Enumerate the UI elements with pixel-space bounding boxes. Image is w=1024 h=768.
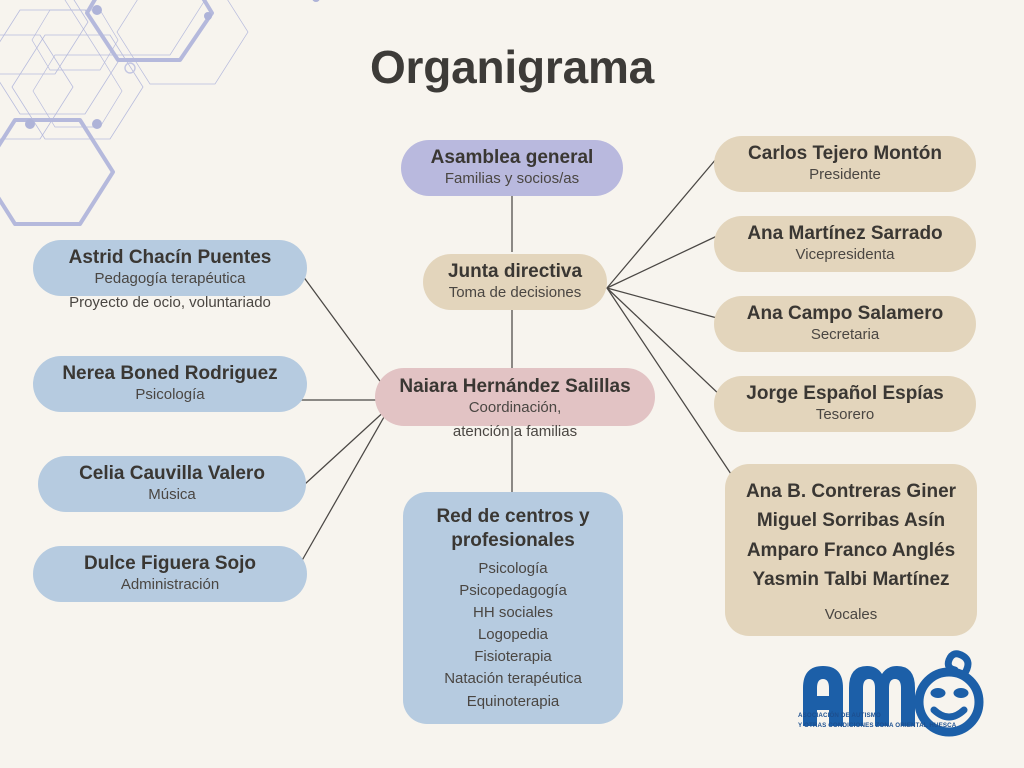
logo-tagline-line-2: Y OTRAS CONDICIONES ZONA ORIENTAL HUESCA	[798, 721, 978, 731]
service-item: Natación terapéutica	[444, 668, 582, 690]
node-staff-celia[interactable]: Celia Cauvilla Valero Música	[38, 456, 306, 512]
junta-name: Junta directiva	[448, 261, 582, 283]
board-member-role: Presidente	[809, 165, 881, 185]
vocales-role: Vocales	[825, 606, 878, 623]
coordinadora-subtitle-2: atención a familias	[375, 422, 655, 442]
red-title-line-2: profesionales	[451, 529, 575, 553]
amo-logo-icon	[795, 648, 985, 748]
node-board-tesorero[interactable]: Jorge Español Espías Tesorero	[714, 376, 976, 432]
node-asamblea-general[interactable]: Asamblea general Familias y socios/as	[401, 140, 623, 196]
service-item: Psicopedagogía	[459, 580, 567, 602]
node-junta-directiva[interactable]: Junta directiva Toma de decisiones	[423, 254, 607, 310]
service-item: Equinoterapia	[467, 691, 560, 713]
service-item: Psicología	[478, 558, 547, 580]
coordinadora-name: Naiara Hernández Salillas	[399, 376, 630, 398]
hexagon-decoration-icon	[0, 0, 340, 240]
staff-name: Astrid Chacín Puentes	[69, 247, 272, 269]
service-item: HH sociales	[473, 602, 553, 624]
staff-role: Música	[148, 485, 196, 505]
red-title-line-1: Red de centros y	[436, 505, 589, 529]
staff-role: Psicología	[135, 385, 204, 405]
staff-name: Nerea Boned Rodriguez	[62, 363, 277, 385]
staff-name: Dulce Figuera Sojo	[84, 553, 256, 575]
node-vocales[interactable]: Ana B. Contreras Giner Miguel Sorribas A…	[725, 464, 977, 636]
staff-role: Administración	[121, 575, 219, 595]
service-item: Fisioterapia	[474, 646, 552, 668]
node-board-vicepresidenta[interactable]: Ana Martínez Sarrado Vicepresidenta	[714, 216, 976, 272]
board-member-role: Vicepresidenta	[796, 245, 895, 265]
node-staff-dulce[interactable]: Dulce Figuera Sojo Administración	[33, 546, 307, 602]
node-board-presidente[interactable]: Carlos Tejero Montón Presidente	[714, 136, 976, 192]
board-member-role: Secretaria	[811, 325, 879, 345]
page-title: Organigrama	[0, 40, 1024, 94]
board-member-name: Ana Campo Salamero	[747, 303, 943, 325]
logo-tagline-line-1: ASOCIACIÓN DE AUTISMO	[798, 711, 978, 721]
coordinadora-subtitle-1: Coordinación,	[469, 398, 562, 418]
board-member-role: Tesorero	[816, 405, 874, 425]
junta-subtitle: Toma de decisiones	[449, 283, 582, 303]
board-member-name: Carlos Tejero Montón	[748, 143, 942, 165]
board-member-name: Ana Martínez Sarrado	[747, 223, 942, 245]
node-staff-astrid[interactable]: Astrid Chacín Puentes Pedagogía terapéut…	[33, 240, 307, 296]
node-staff-nerea[interactable]: Nerea Boned Rodriguez Psicología	[33, 356, 307, 412]
staff-name: Celia Cauvilla Valero	[79, 463, 265, 485]
vocal-name: Miguel Sorribas Asín	[757, 506, 945, 535]
vocal-name: Yasmin Talbi Martínez	[752, 565, 949, 594]
vocal-name: Amparo Franco Anglés	[747, 536, 955, 565]
staff-role-secondary: Proyecto de ocio, voluntariado	[0, 294, 340, 311]
asamblea-name: Asamblea general	[431, 147, 594, 169]
vocal-name: Ana B. Contreras Giner	[746, 477, 956, 506]
organigrama-canvas: Organigrama Asamblea general Familias y …	[0, 0, 1024, 768]
node-board-secretaria[interactable]: Ana Campo Salamero Secretaria	[714, 296, 976, 352]
logo-tagline: ASOCIACIÓN DE AUTISMO Y OTRAS CONDICIONE…	[798, 711, 978, 730]
service-item: Logopedia	[478, 624, 548, 646]
staff-role: Pedagogía terapéutica	[95, 269, 246, 289]
node-coordinadora[interactable]: Naiara Hernández Salillas Coordinación, …	[375, 368, 655, 426]
asamblea-subtitle: Familias y socios/as	[445, 169, 579, 189]
node-red-de-centros[interactable]: Red de centros y profesionales Psicologí…	[403, 492, 623, 724]
board-member-name: Jorge Español Espías	[746, 383, 943, 405]
